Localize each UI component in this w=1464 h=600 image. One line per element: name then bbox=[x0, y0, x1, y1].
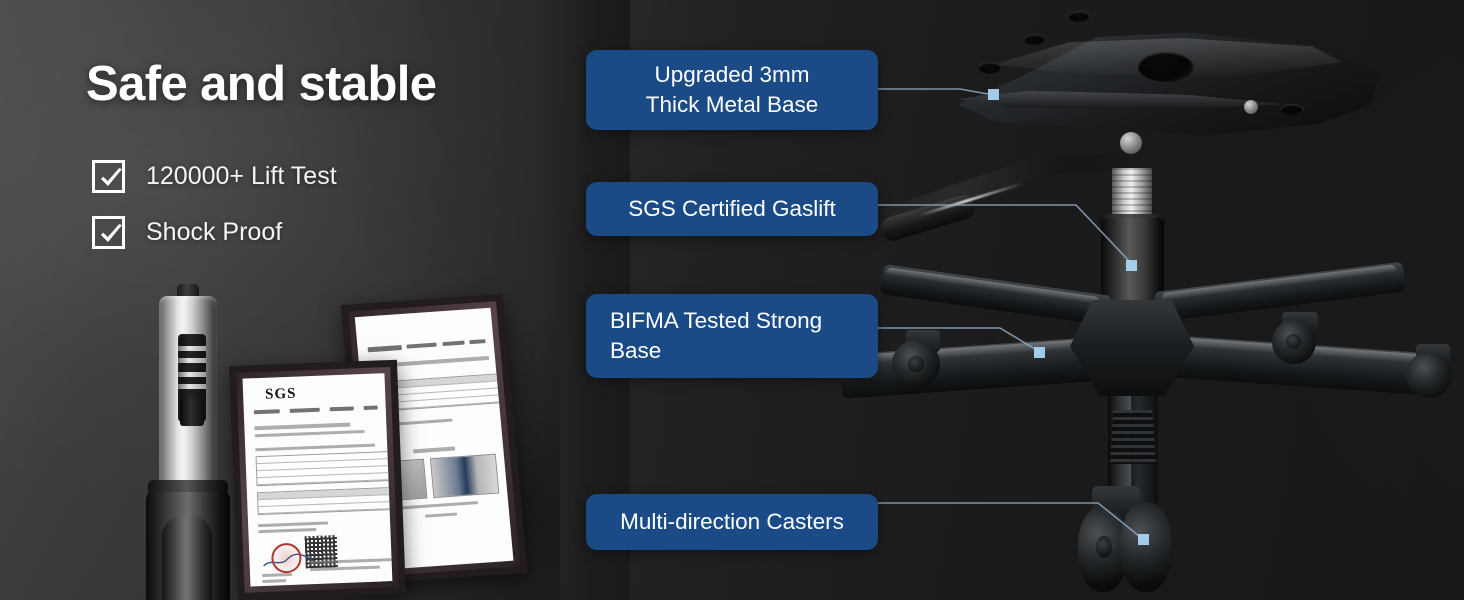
certificate-header bbox=[368, 339, 486, 352]
seat-plate-center-bolt bbox=[1120, 132, 1142, 154]
list-item: 120000+ Lift Test bbox=[92, 156, 337, 196]
caster-wheel-hub bbox=[1096, 536, 1112, 558]
callout-metal-base[interactable]: Upgraded 3mm Thick Metal Base bbox=[586, 50, 878, 130]
feature-label: Shock Proof bbox=[146, 218, 282, 247]
callout-metal-base-text: Upgraded 3mm Thick Metal Base bbox=[586, 60, 878, 120]
callout-line-2: Base bbox=[610, 336, 878, 366]
infographic-banner: Safe and stable 120000+ Lift Test Shock … bbox=[0, 0, 1464, 600]
cylinder-ring bbox=[178, 358, 206, 363]
office-chair-base-photo bbox=[820, 0, 1464, 600]
callout-bifma-base[interactable]: BIFMA Tested Strong Base bbox=[586, 294, 878, 378]
caster-wheel bbox=[1406, 352, 1452, 398]
cylinder-ring bbox=[178, 384, 206, 389]
caster-wheel-hub bbox=[908, 356, 924, 372]
certificate-table bbox=[255, 451, 392, 486]
certificate-front: SGS bbox=[229, 360, 406, 600]
callout-sgs-gaslift[interactable]: SGS Certified Gaslift bbox=[586, 182, 878, 236]
certificate-page: SGS bbox=[243, 373, 393, 586]
caster-wheel bbox=[1120, 502, 1172, 592]
certificate-frame: SGS bbox=[236, 367, 398, 593]
callout-marker-gaslift bbox=[1126, 260, 1137, 271]
base-hub-ribbing bbox=[1110, 410, 1156, 464]
red-seal bbox=[271, 543, 302, 574]
seat-plate-bolt bbox=[1244, 100, 1258, 114]
caster-wheel-hub bbox=[1286, 334, 1301, 349]
callout-line-1: BIFMA Tested Strong bbox=[610, 306, 878, 336]
callout-line-1: Upgraded 3mm bbox=[586, 60, 878, 90]
callout-sgs-gaslift-text: SGS Certified Gaslift bbox=[586, 194, 878, 224]
feature-label: 120000+ Lift Test bbox=[146, 162, 337, 191]
checkbox-checked-icon bbox=[92, 160, 125, 193]
seat-plate-bolt-hole bbox=[1280, 104, 1304, 115]
certificate-photo-thumb bbox=[430, 454, 499, 498]
base-hub bbox=[1070, 300, 1194, 396]
cylinder-ring bbox=[178, 346, 206, 351]
callout-multi-direction-casters[interactable]: Multi-direction Casters bbox=[586, 494, 878, 550]
callout-bifma-base-text: BIFMA Tested Strong Base bbox=[586, 306, 878, 366]
feature-list: 120000+ Lift Test Shock Proof bbox=[92, 156, 337, 268]
callout-casters-text: Multi-direction Casters bbox=[586, 507, 878, 537]
callout-marker-casters bbox=[1138, 534, 1149, 545]
callout-marker-bifma-base bbox=[1034, 347, 1045, 358]
checkbox-checked-icon bbox=[92, 216, 125, 249]
callout-marker-metal-base bbox=[988, 89, 999, 100]
seat-plate-bolt-hole bbox=[1024, 34, 1046, 45]
seat-plate-bolt-hole bbox=[978, 62, 1002, 74]
seat-plate-bolt-hole bbox=[1068, 11, 1090, 22]
callout-line-2: Thick Metal Base bbox=[586, 90, 878, 120]
seat-plate-center-hole bbox=[1138, 52, 1194, 82]
cylinder-valve-plug bbox=[180, 398, 204, 426]
list-item: Shock Proof bbox=[92, 212, 337, 252]
cylinder-ring bbox=[178, 372, 206, 377]
cylinder-body-highlight bbox=[162, 516, 212, 600]
sgs-logo: SGS bbox=[265, 386, 297, 404]
certificate-header bbox=[254, 405, 378, 414]
gas-lift-cylinder-photo bbox=[128, 284, 248, 600]
page-title: Safe and stable bbox=[86, 56, 436, 112]
certificate-result-table bbox=[257, 487, 393, 515]
